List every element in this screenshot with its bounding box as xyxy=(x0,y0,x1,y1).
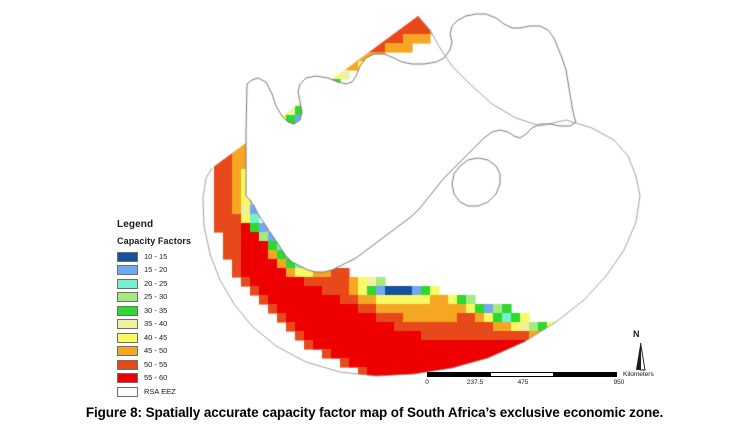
scale-bar: 0237.5475950 Kilometers xyxy=(427,372,677,394)
north-arrow: N xyxy=(625,330,657,372)
legend-30-35[interactable]: 30 - 35 xyxy=(117,304,213,317)
legend-30-35-label: 30 - 35 xyxy=(144,306,167,316)
legend-20-25-label: 20 - 25 xyxy=(144,279,167,289)
legend-30-35-swatch xyxy=(117,306,138,316)
legend-40-45-label: 40 - 45 xyxy=(144,333,167,343)
scale-bar-segment xyxy=(427,372,491,377)
legend-15-20-swatch xyxy=(117,265,138,275)
legend-rsa-eez-label: RSA EEZ xyxy=(144,387,176,397)
legend-25-30[interactable]: 25 - 30 xyxy=(117,291,213,304)
scale-bar-tick: 950 xyxy=(614,379,625,386)
legend-25-30-label: 25 - 30 xyxy=(144,292,167,302)
legend-55-60-swatch xyxy=(117,373,138,383)
north-arrow-needle-icon xyxy=(625,340,657,372)
legend-15-20[interactable]: 15 - 20 xyxy=(117,264,213,277)
north-arrow-label: N xyxy=(633,330,640,339)
scale-bar-track xyxy=(427,372,619,377)
scale-bar-segment xyxy=(553,372,617,377)
legend-40-45[interactable]: 40 - 45 xyxy=(117,331,213,344)
legend-45-50-label: 45 - 50 xyxy=(144,346,167,356)
figure-container: Legend Capacity Factors 10 - 1515 - 2020… xyxy=(0,0,749,446)
legend-45-50-swatch xyxy=(117,346,138,356)
legend-50-55-label: 50 - 55 xyxy=(144,360,167,370)
scale-bar-tick: 475 xyxy=(518,379,529,386)
legend-45-50[interactable]: 45 - 50 xyxy=(117,345,213,358)
legend-rsa-eez[interactable]: RSA EEZ xyxy=(117,385,213,398)
legend-row-list: 10 - 1515 - 2020 - 2525 - 3030 - 3535 - … xyxy=(117,250,213,398)
legend-55-60[interactable]: 55 - 60 xyxy=(117,372,213,385)
legend-35-40[interactable]: 35 - 40 xyxy=(117,318,213,331)
scale-bar-segment xyxy=(490,372,554,377)
legend-rsa-eez-swatch xyxy=(117,387,138,397)
scale-bar-tick: 237.5 xyxy=(467,379,483,386)
legend-10-15-swatch xyxy=(117,252,138,262)
scale-bar-unit-label: Kilometers xyxy=(623,371,654,378)
legend-20-25[interactable]: 20 - 25 xyxy=(117,277,213,290)
scale-bar-tick: 0 xyxy=(425,379,429,386)
legend-title: Legend xyxy=(117,219,213,231)
legend-55-60-label: 55 - 60 xyxy=(144,373,167,383)
legend-40-45-swatch xyxy=(117,333,138,343)
legend-50-55[interactable]: 50 - 55 xyxy=(117,358,213,371)
legend-subtitle: Capacity Factors xyxy=(117,236,213,247)
map-legend: Legend Capacity Factors 10 - 1515 - 2020… xyxy=(117,219,213,399)
legend-20-25-swatch xyxy=(117,279,138,289)
legend-35-40-label: 35 - 40 xyxy=(144,319,167,329)
legend-10-15[interactable]: 10 - 15 xyxy=(117,250,213,263)
legend-35-40-swatch xyxy=(117,319,138,329)
legend-15-20-label: 15 - 20 xyxy=(144,265,167,275)
legend-10-15-label: 10 - 15 xyxy=(144,252,167,262)
legend-25-30-swatch xyxy=(117,292,138,302)
legend-50-55-swatch xyxy=(117,360,138,370)
figure-caption: Figure 8: Spatially accurate capacity fa… xyxy=(0,404,749,422)
